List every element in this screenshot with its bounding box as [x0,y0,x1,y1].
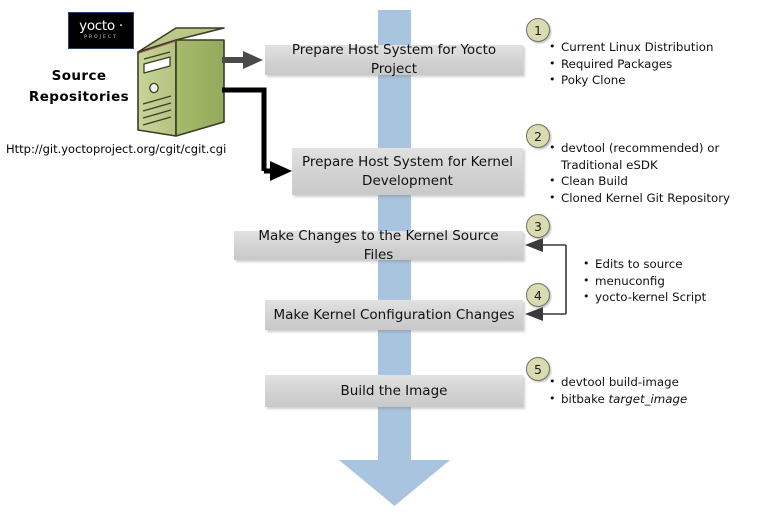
step-number-2-text: 2 [534,129,542,144]
bullet-text: Current Linux Distribution [561,40,713,54]
step-number-4-text: 4 [534,288,542,303]
arrow-server-to-step1 [222,51,263,69]
bullet-text: devtool build-image [561,375,679,389]
step-box-5[interactable]: Build the Image [265,375,523,407]
step-number-5: 5 [526,357,550,381]
step-box-3[interactable]: Make Changes to the Kernel Source Files [234,231,523,260]
bullet-item: Clean Build [549,173,730,190]
bullet-text: Required Packages [561,57,672,71]
bullet-item: Required Packages [549,56,713,73]
bullet-text: Cloned Kernel Git Repository [561,191,730,205]
bullet-text: Poky Clone [561,73,626,87]
bullet-item: yocto-kernel Script [583,289,706,306]
step-box-4[interactable]: Make Kernel Configuration Changes [265,300,523,330]
bullet-item: devtool (recommended) or Traditional eSD… [549,140,730,173]
bullet-text: yocto-kernel Script [595,290,706,304]
bullet-text-continued: Traditional eSDK [561,157,730,174]
arrow-server-to-step2 [222,90,292,181]
step-number-3: 3 [526,214,550,238]
step-2-bullets: devtool (recommended) or Traditional eSD… [549,140,730,206]
step-number-2: 2 [526,124,550,148]
step-1-bullets: Current Linux Distribution Required Pack… [549,39,713,89]
bullet-item: menuconfig [583,273,706,290]
bullet-text: Edits to source [595,257,683,271]
steps-3-4-bullets: Edits to source menuconfig yocto-kernel … [583,256,706,306]
step-box-5-label: Build the Image [341,382,448,401]
bullet-text: menuconfig [595,274,665,288]
step-number-1: 1 [526,18,550,42]
bullet-text: bitbake [561,392,609,406]
bullet-text: Clean Build [561,174,628,188]
step-box-1[interactable]: Prepare Host System for Yocto Project [265,45,523,75]
bullet-item: devtool build-image [549,374,687,391]
step-box-1-label: Prepare Host System for Yocto Project [273,41,515,79]
step-box-3-label: Make Changes to the Kernel Source Files [242,227,515,265]
step-number-5-text: 5 [534,362,542,377]
bullet-text-emphasis: target_image [609,392,688,406]
step-5-bullets: devtool build-image bitbake target_image [549,374,687,407]
step-box-4-label: Make Kernel Configuration Changes [273,306,514,325]
bullet-item: Poky Clone [549,72,713,89]
bracket-steps-3-4 [525,238,566,321]
step-number-3-text: 3 [534,219,542,234]
diagram-canvas: yocto · PROJECT Source Repositories Http… [0,0,769,517]
bullet-text: devtool (recommended) or [561,141,719,155]
step-box-2-label: Prepare Host System for Kernel Developme… [300,153,515,191]
step-number-1-text: 1 [534,23,542,38]
bullet-item: Cloned Kernel Git Repository [549,190,730,207]
step-number-4: 4 [526,283,550,307]
bullet-item: Edits to source [583,256,706,273]
bullet-item: Current Linux Distribution [549,39,713,56]
bullet-item: bitbake target_image [549,391,687,408]
step-box-2[interactable]: Prepare Host System for Kernel Developme… [292,148,523,195]
